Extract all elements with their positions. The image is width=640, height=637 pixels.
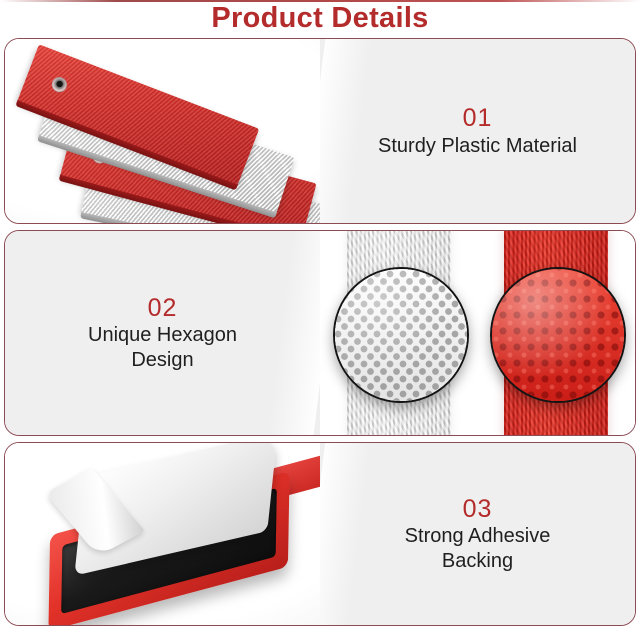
feature-caption-01: 01 Sturdy Plastic Material bbox=[320, 39, 635, 223]
feature-label-02: Unique Hexagon Design bbox=[88, 323, 237, 372]
tape-column-silver bbox=[320, 231, 478, 435]
page-title: Product Details bbox=[211, 4, 428, 33]
feature-label-03: Strong Adhesive Backing bbox=[405, 524, 551, 573]
feature-photo-02 bbox=[320, 231, 635, 435]
feature-photo-03 bbox=[5, 443, 320, 625]
feature-number-01: 01 bbox=[378, 104, 577, 134]
feature-panel-01: 01 Sturdy Plastic Material bbox=[4, 38, 636, 224]
hexagon-pattern-macro-photo bbox=[320, 231, 635, 435]
page-header: Product Details bbox=[0, 0, 640, 36]
lens-gloss bbox=[335, 269, 467, 401]
feature-caption-03: 03 Strong Adhesive Backing bbox=[320, 443, 635, 625]
caption-block: 01 Sturdy Plastic Material bbox=[364, 104, 591, 158]
feature-number-02: 02 bbox=[88, 294, 237, 324]
adhesive-backing-peel-photo bbox=[5, 443, 320, 625]
tape-column-red bbox=[478, 231, 636, 435]
feature-panel-02: 02 Unique Hexagon Design bbox=[4, 230, 636, 436]
feature-label-01: Sturdy Plastic Material bbox=[378, 134, 577, 158]
feature-caption-02: 02 Unique Hexagon Design bbox=[5, 231, 320, 435]
fanned-reflector-strips-photo bbox=[5, 39, 320, 223]
feature-number-03: 03 bbox=[405, 495, 551, 525]
magnifier-lens-silver bbox=[333, 267, 469, 403]
feature-panel-03: 03 Strong Adhesive Backing bbox=[4, 442, 636, 626]
feature-photo-01 bbox=[5, 39, 320, 223]
magnifier-lens-red bbox=[490, 267, 626, 403]
caption-block: 03 Strong Adhesive Backing bbox=[391, 495, 565, 573]
caption-block: 02 Unique Hexagon Design bbox=[74, 294, 251, 372]
lens-gloss bbox=[492, 269, 624, 401]
